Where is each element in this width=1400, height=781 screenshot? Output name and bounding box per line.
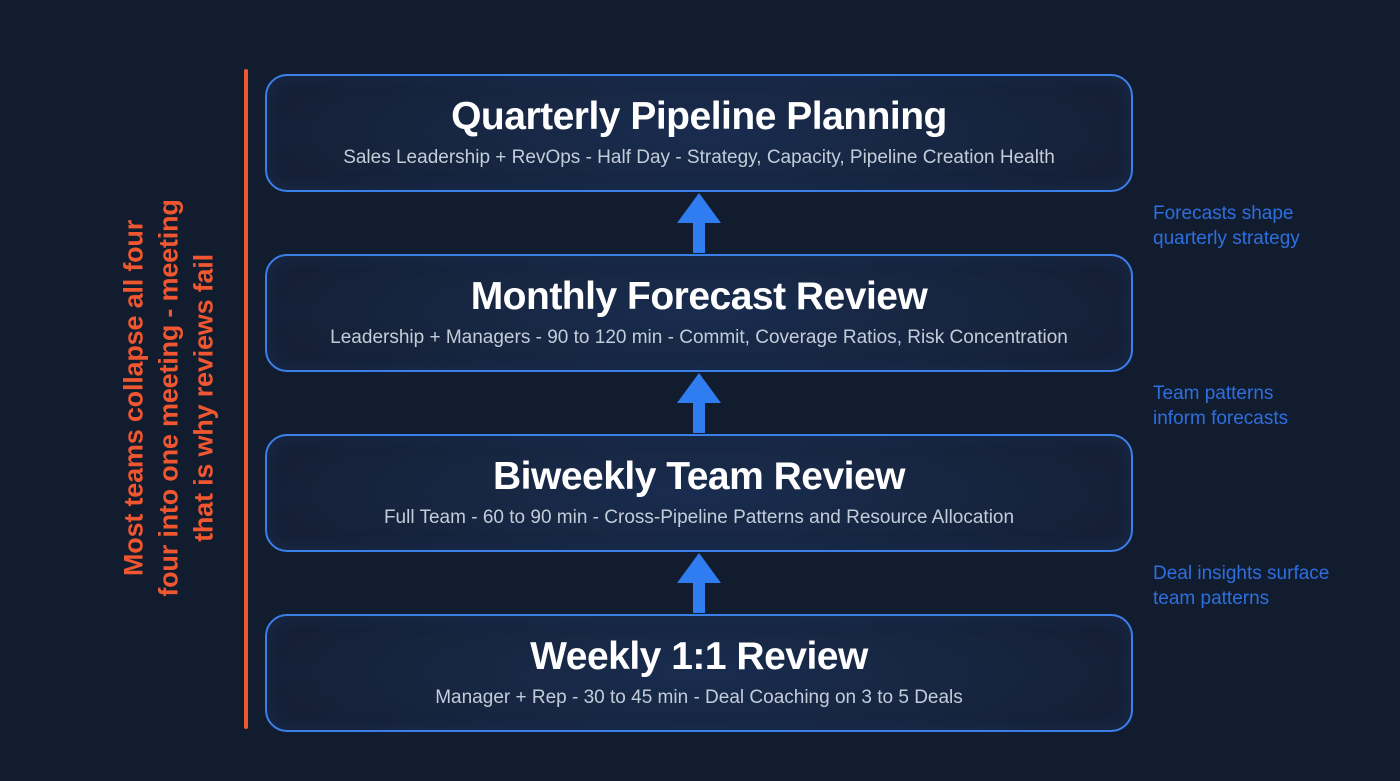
stage-subtitle-biweekly: Full Team - 60 to 90 min - Cross-Pipelin…: [384, 507, 1014, 530]
annotation-line-2: quarterly strategy: [1153, 226, 1398, 251]
stage-box-monthly[interactable]: Monthly Forecast Review Leadership + Man…: [265, 254, 1133, 372]
arrow-up-icon-biweekly-to-monthly: [675, 373, 723, 433]
connector-annotation-biweekly-to-monthly: Team patterns inform forecasts: [1153, 381, 1398, 431]
vertical-callout-line-3: that is why reviews fail: [187, 68, 222, 728]
accent-vertical-rule: [244, 69, 248, 729]
stage-subtitle-weekly: Manager + Rep - 30 to 45 min - Deal Coac…: [435, 687, 963, 710]
annotation-line-2: inform forecasts: [1153, 406, 1398, 431]
diagram-canvas: Most teams collapse all four four into o…: [0, 0, 1400, 781]
vertical-callout-line-2: four into one meeting - meeting: [151, 68, 186, 728]
annotation-line-1: Team patterns: [1153, 381, 1398, 406]
connector-annotation-weekly-to-biweekly: Deal insights surface team patterns: [1153, 561, 1398, 611]
stage-box-biweekly[interactable]: Biweekly Team Review Full Team - 60 to 9…: [265, 434, 1133, 552]
connector-annotation-monthly-to-quarterly: Forecasts shape quarterly strategy: [1153, 201, 1398, 251]
stage-box-quarterly[interactable]: Quarterly Pipeline Planning Sales Leader…: [265, 74, 1133, 192]
stage-box-weekly[interactable]: Weekly 1:1 Review Manager + Rep - 30 to …: [265, 614, 1133, 732]
arrow-up-icon-monthly-to-quarterly: [675, 193, 723, 253]
vertical-callout-note: Most teams collapse all four four into o…: [104, 68, 234, 728]
stage-title-quarterly: Quarterly Pipeline Planning: [451, 97, 947, 138]
annotation-line-1: Forecasts shape: [1153, 201, 1398, 226]
stage-title-biweekly: Biweekly Team Review: [493, 457, 905, 498]
stage-subtitle-monthly: Leadership + Managers - 90 to 120 min - …: [330, 327, 1068, 350]
annotation-line-2: team patterns: [1153, 586, 1398, 611]
arrow-up-icon-weekly-to-biweekly: [675, 553, 723, 613]
vertical-callout-text: Most teams collapse all four four into o…: [116, 68, 221, 728]
vertical-callout-line-1: Most teams collapse all four: [116, 68, 151, 728]
stage-subtitle-quarterly: Sales Leadership + RevOps - Half Day - S…: [343, 147, 1055, 170]
stage-title-weekly: Weekly 1:1 Review: [530, 637, 868, 678]
annotation-line-1: Deal insights surface: [1153, 561, 1398, 586]
stage-title-monthly: Monthly Forecast Review: [471, 277, 928, 318]
